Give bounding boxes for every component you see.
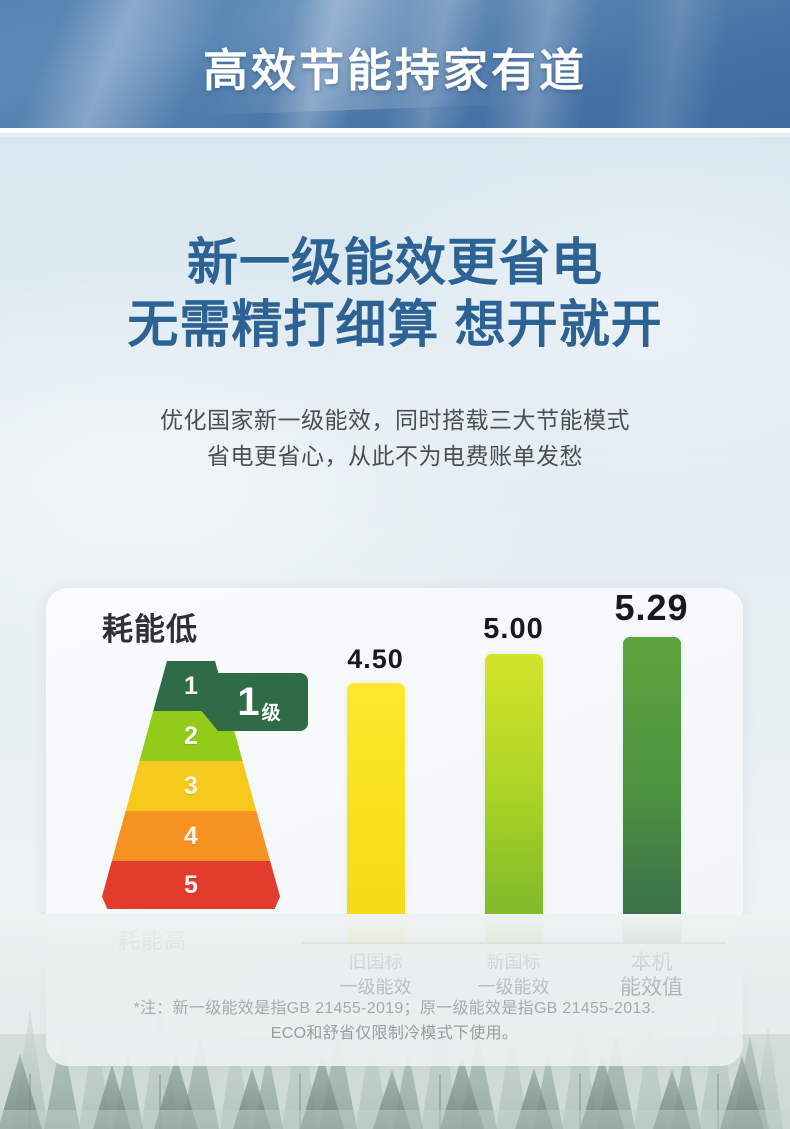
grade-badge: 1 级 [194, 673, 308, 731]
bar-0 [347, 683, 405, 942]
hero-headline-line-1: 新一级能效更省电 [0, 232, 790, 294]
pyramid-level-5: 5 [102, 861, 280, 909]
bar-value-1: 5.00 [483, 613, 543, 646]
bar-1 [485, 654, 543, 942]
hero-subtitle-line-1: 优化国家新一级能效，同时搭载三大节能模式 [0, 402, 790, 438]
hero-subtitle-line-2: 省电更省心，从此不为电费账单发愁 [0, 438, 790, 474]
pyramid-title-low-consumption: 耗能低 [102, 604, 324, 649]
hero-headline: 新一级能效更省电 无需精打细算 想开就开 [0, 232, 790, 356]
bar-value-0: 4.50 [347, 644, 404, 675]
energy-efficiency-promo-page: 高效节能持家有道 新一级能效更省电 无需精打细算 想开就开 优化国家新一级能效，… [0, 0, 790, 1129]
banner-title: 高效节能持家有道 [0, 34, 790, 99]
pyramid-level-3: 3 [102, 761, 280, 811]
pyramid-graphic: 1 2 3 4 5 1 级 [102, 661, 280, 909]
forest-haze-overlay [0, 914, 790, 1129]
grade-badge-unit: 级 [262, 698, 281, 725]
header-banner: 高效节能持家有道 [0, 0, 790, 133]
chart-plot-area: 4.50 5.00 5.29 [299, 604, 729, 944]
bar-2 [623, 637, 681, 942]
forest-background [0, 914, 790, 1129]
grade-badge-number: 1 [237, 682, 259, 722]
pyramid-level-4: 4 [102, 811, 280, 861]
bar-value-2: 5.29 [614, 587, 688, 629]
energy-grade-pyramid: 耗能低 1 2 3 4 5 1 级 耗能高 [74, 604, 324, 955]
hero-subtitle: 优化国家新一级能效，同时搭载三大节能模式 省电更省心，从此不为电费账单发愁 [0, 402, 790, 474]
hero-headline-line-2: 无需精打细算 想开就开 [0, 294, 790, 356]
